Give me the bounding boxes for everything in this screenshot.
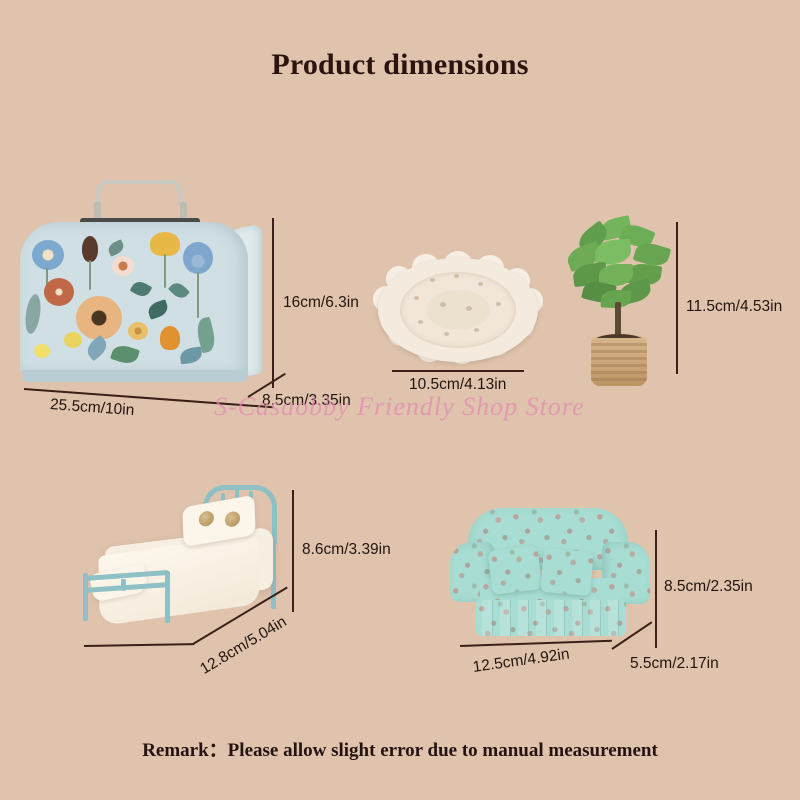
leaf-7	[23, 293, 42, 335]
pot-rope-band	[591, 343, 647, 346]
flower-blue-1	[32, 240, 64, 270]
page-title: Product dimensions	[0, 48, 800, 82]
suitcase-depth-label: 8.5cm/3.35in	[262, 392, 351, 410]
leaf-4	[168, 280, 190, 302]
doily-hole	[430, 278, 435, 282]
bed-leg	[121, 579, 126, 591]
doily-hole	[474, 328, 479, 332]
plant-pot	[591, 338, 647, 386]
bed-leg	[165, 571, 170, 623]
doily-hole	[466, 306, 472, 311]
sofa-height-label: 8.5cm/2.35in	[664, 578, 753, 596]
doily-width-label: 10.5cm/4.13in	[409, 376, 506, 394]
flower-peach-1	[112, 256, 134, 276]
sofa-cushion-left	[488, 545, 543, 595]
flower-yellow-2	[128, 322, 148, 340]
doily-hole	[418, 320, 423, 324]
doily-hole	[496, 302, 501, 306]
doily-inner-ring	[426, 290, 490, 330]
pot-rope-band	[591, 357, 647, 360]
product-doily	[378, 258, 538, 368]
product-suitcase	[18, 178, 268, 388]
flower-red-1	[44, 278, 74, 306]
suitcase-height-label: 16cm/6.3in	[283, 294, 359, 312]
flower-blue-2	[183, 242, 213, 274]
suitcase-body	[20, 222, 248, 374]
pot-rope-band	[591, 350, 647, 353]
skirt-pleat	[518, 600, 529, 636]
skirt-pleat	[482, 600, 493, 636]
product-dimensions-infographic: Product dimensions	[0, 0, 800, 800]
flower-orange-1	[160, 326, 180, 350]
leaf-2	[130, 278, 153, 299]
leaf-3	[146, 299, 170, 319]
leaf-1	[106, 239, 125, 256]
bed-height-line	[292, 490, 294, 612]
flower-yellow-1	[150, 232, 180, 256]
skirt-pleat	[572, 600, 583, 636]
doily-hole	[478, 282, 483, 286]
skirt-pleat	[500, 600, 511, 636]
doily-width-line	[392, 370, 524, 372]
leaf-8	[179, 347, 203, 365]
product-plant	[565, 218, 675, 378]
remark-text: Remark：Please allow slight error due to …	[0, 735, 800, 762]
pot-rope-band	[591, 364, 647, 367]
flower-dark-tulip	[82, 236, 98, 262]
sofa-skirt	[476, 600, 626, 636]
flower-yellow-4	[34, 344, 50, 358]
skirt-pleat	[536, 600, 547, 636]
doily-hole	[454, 274, 459, 278]
suitcase-handle-icon	[96, 180, 182, 206]
bed-height-label: 8.6cm/3.39in	[302, 541, 391, 559]
doily-hole	[414, 296, 419, 300]
pot-rope-band	[591, 378, 647, 381]
flower-large-center	[76, 296, 122, 340]
stem-2	[89, 260, 91, 290]
doily-hole	[444, 332, 449, 336]
doily-hole	[440, 302, 446, 307]
pillow-button	[225, 510, 241, 528]
suitcase-base	[22, 370, 248, 382]
stem-4	[197, 272, 199, 318]
sofa-width-label: 12.5cm/4.92in	[472, 646, 571, 677]
pillow-button	[199, 510, 215, 528]
sofa-cushion-right	[540, 548, 594, 596]
sofa-depth-label: 5.5cm/2.17in	[630, 655, 719, 673]
plant-height-label: 11.5cm/4.53in	[686, 298, 782, 316]
bed-leg	[83, 573, 88, 621]
suitcase-height-line	[272, 218, 274, 388]
plant-height-line	[676, 222, 678, 374]
skirt-pleat	[590, 600, 601, 636]
product-sofa	[450, 508, 650, 648]
suitcase-width-label: 25.5cm/10in	[49, 396, 135, 420]
flower-yellow-3	[64, 332, 82, 348]
leaf-6	[110, 342, 140, 366]
stem-3	[164, 254, 166, 288]
pot-rope-band	[591, 371, 647, 374]
sofa-height-line	[655, 530, 657, 648]
skirt-pleat	[554, 600, 565, 636]
skirt-pleat	[608, 600, 619, 636]
